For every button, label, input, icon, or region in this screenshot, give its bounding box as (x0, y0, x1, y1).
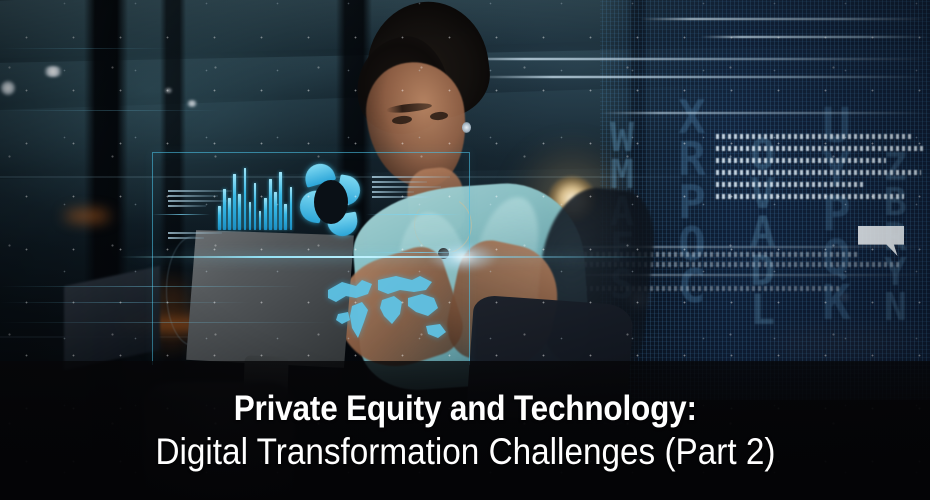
page-title-line-2: Digital Transformation Challenges (Part … (155, 431, 775, 473)
page-title-line-1: Private Equity and Technology: (233, 389, 696, 429)
article-hero-banner: W M A F S X R P O C O V A D L U Y P Q K … (0, 0, 930, 500)
banner-title: Private Equity and Technology: Digital T… (0, 361, 930, 500)
